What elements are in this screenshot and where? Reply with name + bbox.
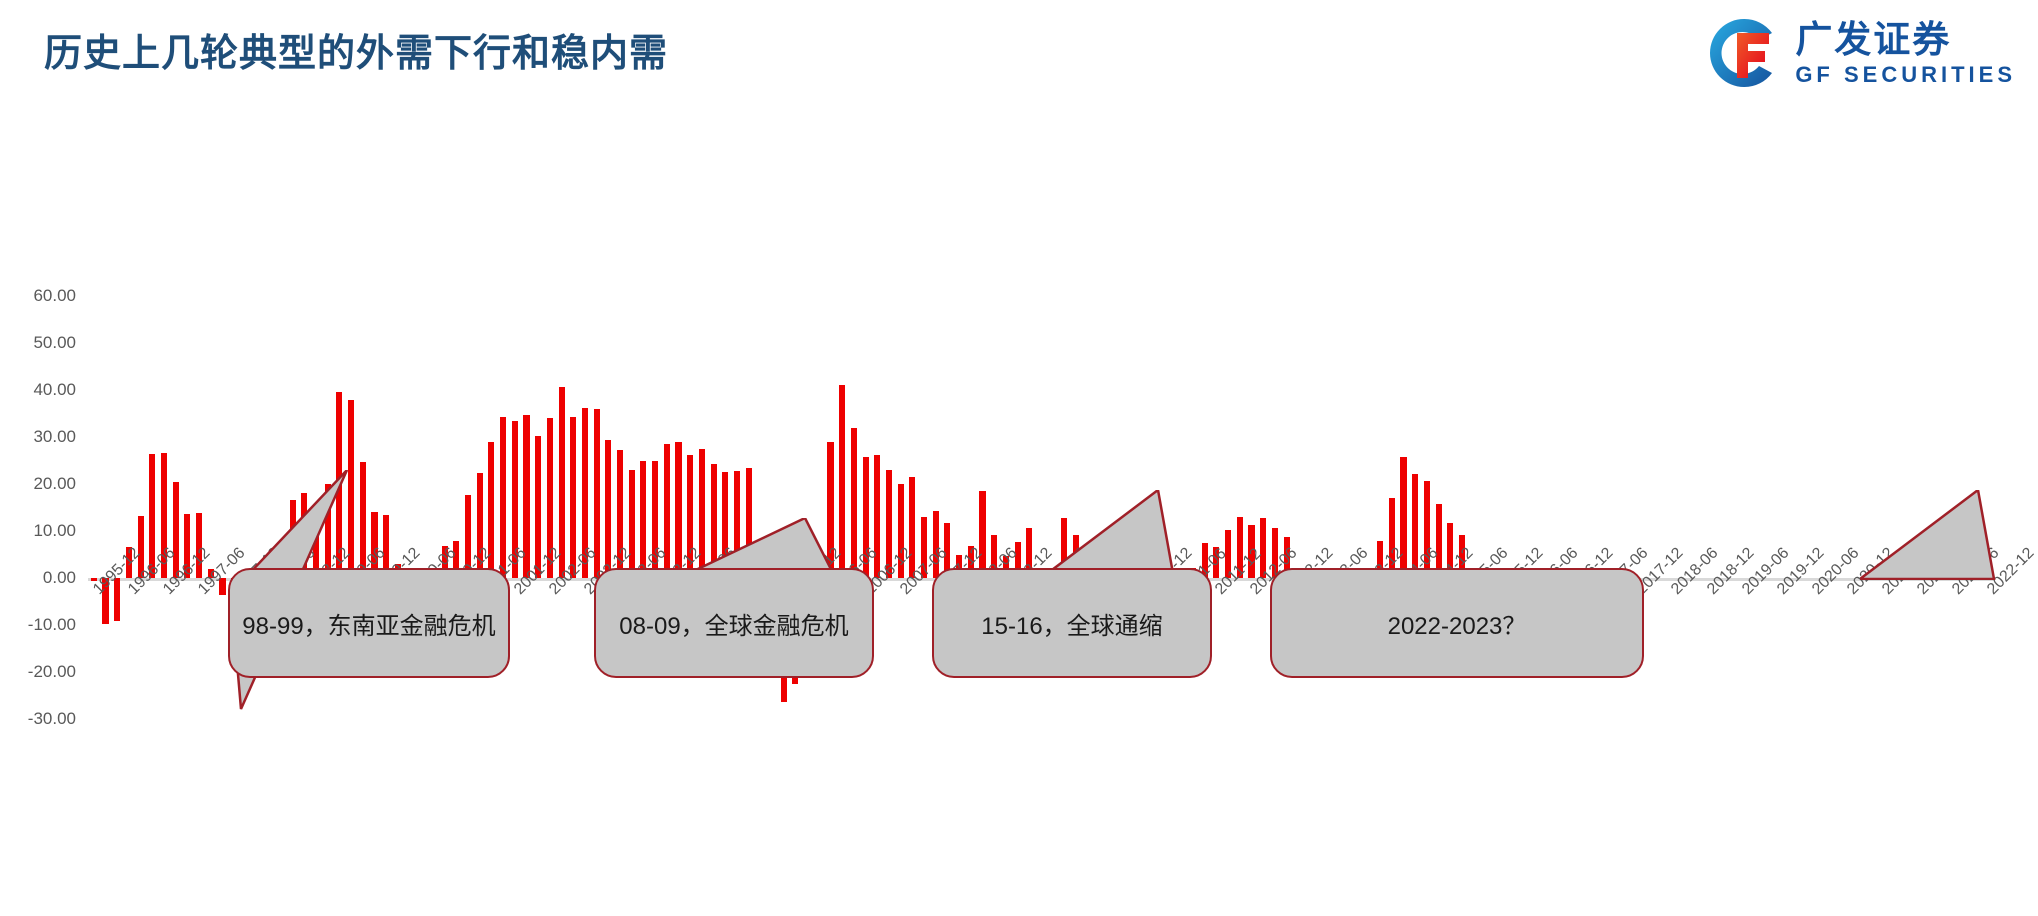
callout-tail-4 — [1860, 490, 2000, 580]
plot-area — [88, 0, 1994, 916]
callout-label-4: 2022-2023？ — [1388, 606, 1527, 641]
bar — [559, 387, 565, 578]
callout-label-3: 15-16，全球通缩 — [981, 606, 1162, 641]
bar — [500, 417, 506, 578]
callout-box-1[interactable]: 98-99，东南亚金融危机 — [228, 568, 510, 678]
y-tick-label: -20.00 — [8, 662, 76, 682]
y-tick-label: 20.00 — [8, 474, 76, 494]
callout-label-1: 98-99，东南亚金融危机 — [242, 606, 495, 641]
callout-label-2: 08-09，全球金融危机 — [619, 606, 848, 641]
bar-chart: 60.0050.0040.0030.0020.0010.000.00-10.00… — [0, 0, 2038, 916]
y-tick-label: 30.00 — [8, 427, 76, 447]
callout-box-3[interactable]: 15-16，全球通缩 — [932, 568, 1212, 678]
y-tick-label: -10.00 — [8, 615, 76, 635]
y-tick-label: 50.00 — [8, 333, 76, 353]
y-tick-label: -30.00 — [8, 709, 76, 729]
y-tick-label: 0.00 — [8, 568, 76, 588]
callout-box-2[interactable]: 08-09，全球金融危机 — [594, 568, 874, 678]
y-tick-label: 40.00 — [8, 380, 76, 400]
callout-tail-3 — [1040, 490, 1220, 580]
bar — [979, 491, 985, 578]
bar — [570, 417, 576, 578]
callout-box-4[interactable]: 2022-2023？ — [1270, 568, 1644, 678]
y-tick-label: 10.00 — [8, 521, 76, 541]
bar — [173, 482, 179, 578]
y-tick-label: 60.00 — [8, 286, 76, 306]
